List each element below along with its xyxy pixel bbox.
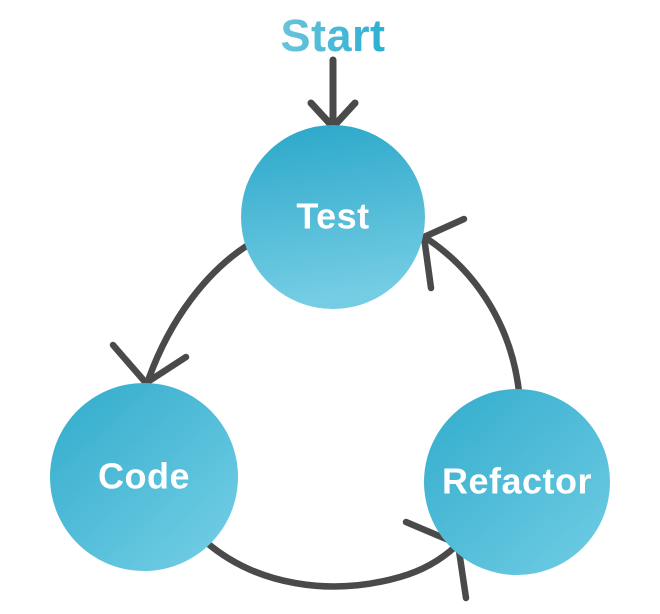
test-to-code-arrow-head	[113, 345, 186, 383]
start-label: Start	[280, 10, 385, 61]
edge-start-to-test	[311, 60, 355, 127]
code-label: Code	[98, 456, 190, 497]
tdd-cycle-diagram: Start Test Code	[0, 0, 660, 614]
node-refactor[interactable]: Refactor	[424, 389, 610, 575]
node-test[interactable]: Test	[241, 125, 425, 309]
test-label: Test	[296, 196, 369, 237]
edge-code-to-refactor	[206, 522, 466, 598]
node-code[interactable]: Code	[50, 383, 238, 571]
code-to-refactor-arc	[206, 542, 456, 586]
refactor-label: Refactor	[442, 461, 592, 502]
test-to-code-arc	[149, 245, 248, 378]
edge-test-to-code	[113, 245, 248, 383]
cycle-canvas: Start Test Code	[0, 0, 660, 614]
edge-refactor-to-test	[424, 219, 519, 392]
refactor-to-test-arc	[429, 240, 519, 392]
